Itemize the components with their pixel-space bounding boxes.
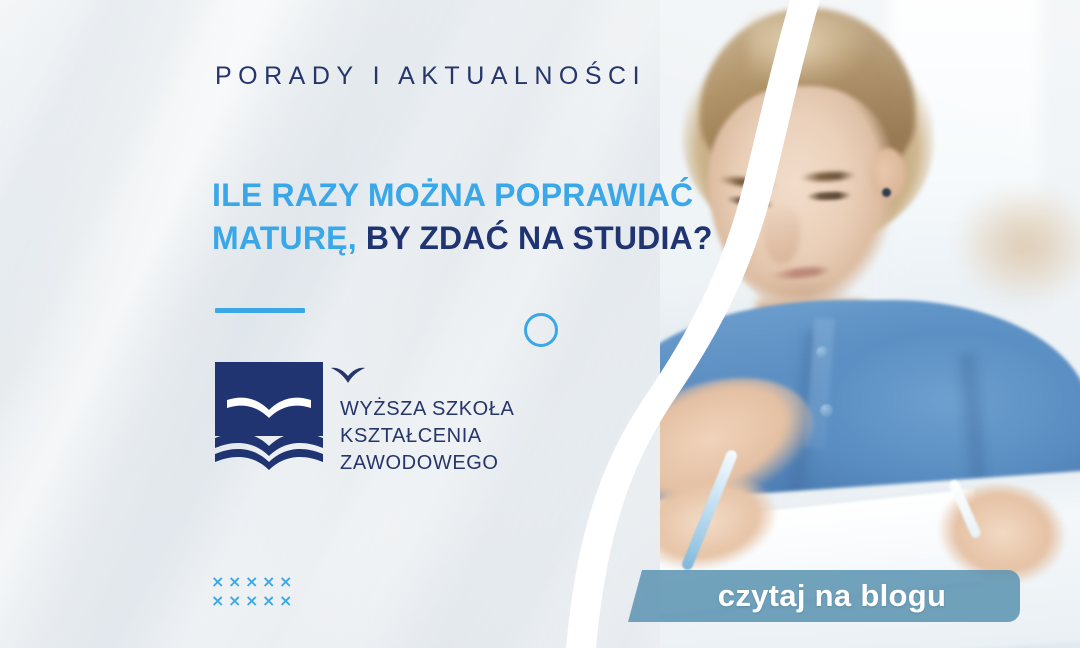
- eyebrow-text: PORADY I AKTUALNOŚCI: [215, 62, 646, 91]
- x-mark: ×: [245, 572, 262, 591]
- logo-line-3: ZAWODOWEGO: [340, 450, 515, 477]
- photo-nose: [764, 206, 800, 264]
- photo-warm-blur: [960, 190, 1080, 300]
- blue-underline-rule: [215, 308, 305, 313]
- headline-dark-part: BY ZDAĆ NA STUDIA?: [357, 220, 713, 256]
- x-mark: ×: [228, 572, 245, 591]
- logo-line-2: KSZTAŁCENIA: [340, 423, 515, 450]
- x-mark: ×: [211, 572, 228, 591]
- x-mark: ×: [245, 591, 262, 610]
- page-title: ILE RAZY MOŻNA POPRAWIAĆ MATURĘ, BY ZDAĆ…: [212, 174, 732, 258]
- x-mark: ×: [262, 572, 279, 591]
- photo-shirt-button: [820, 404, 833, 417]
- x-mark: ×: [279, 591, 296, 610]
- logo-line-1: WYŻSZA SZKOŁA: [340, 396, 515, 423]
- x-mark: ×: [262, 591, 279, 610]
- blog-promo-banner: PORADY I AKTUALNOŚCI ILE RAZY MOŻNA POPR…: [0, 0, 1080, 648]
- photo-earring: [882, 188, 891, 197]
- student-photo: [660, 0, 1080, 648]
- read-on-blog-button[interactable]: czytaj na blogu: [628, 570, 1020, 622]
- blue-circle-outline-icon: [524, 313, 558, 347]
- x-pattern-decoration: × × × × × × × × × ×: [211, 572, 296, 610]
- x-mark: ×: [279, 572, 296, 591]
- x-mark: ×: [228, 591, 245, 610]
- x-mark: ×: [211, 591, 228, 610]
- logo-wordmark: WYŻSZA SZKOŁA KSZTAŁCENIA ZAWODOWEGO: [340, 396, 515, 478]
- bird-chevron-icon: [331, 367, 365, 387]
- open-book-square-icon: [215, 362, 323, 470]
- photo-hair-highlight: [748, 16, 868, 86]
- photo-shirt-button: [816, 346, 829, 359]
